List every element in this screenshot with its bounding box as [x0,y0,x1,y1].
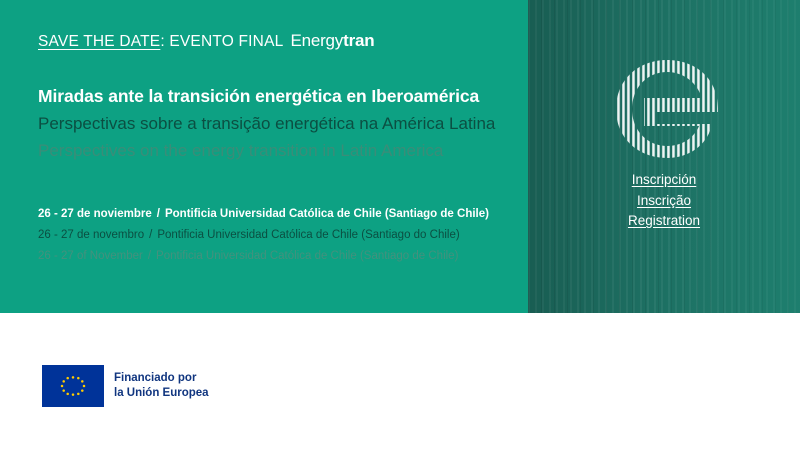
title-block: Miradas ante la transición energética en… [38,86,495,161]
registration-link-english[interactable]: Registration [528,213,800,228]
title-english: Perspectives on the energy transition in… [38,141,495,161]
title-portuguese: Perspectivas sobre a transição energétic… [38,114,495,134]
date-venue-english: 26 - 27 of November/Pontificia Universid… [38,250,489,262]
date-text: 26 - 27 of November [38,250,143,262]
eu-funding-text: Financiado por la Unión Europea [114,371,209,401]
save-the-date-rest: : EVENTO FINAL [160,33,283,50]
date-text: 26 - 27 de noviembre [38,208,152,220]
eu-funding-line-1: Financiado por [114,371,209,386]
title-spanish: Miradas ante la transición energética en… [38,86,495,107]
wordmark-light-part: Energy [290,31,343,50]
date-text: 26 - 27 de novembro [38,229,144,241]
date-venue-separator: / [152,208,165,220]
registration-link-spanish[interactable]: Inscripción [528,172,800,187]
date-venue-spanish: 26 - 27 de noviembre/Pontificia Universi… [38,208,489,220]
eu-funding-line-2: la Unión Europea [114,386,209,401]
european-union-flag-icon [42,365,104,407]
date-venue-block: 26 - 27 de noviembre/Pontificia Universi… [38,208,489,262]
wordmark-bold-part: tran [343,31,374,50]
event-announcement-poster: SAVE THE DATE: EVENTO FINALEnergytran Mi… [0,0,800,450]
registration-link-portuguese[interactable]: Inscrição [528,193,800,208]
registration-links: Inscripción Inscrição Registration [528,172,800,228]
date-venue-portuguese: 26 - 27 de novembro/Pontificia Universid… [38,229,489,241]
hero-banner: SAVE THE DATE: EVENTO FINALEnergytran Mi… [0,0,800,313]
date-venue-separator: / [144,229,157,241]
venue-text: Pontificia Universidad Católica de Chile… [157,229,459,241]
footer-sponsor-bar: Financiado por la Unión Europea CONSORCI… [0,313,800,450]
venue-text: Pontificia Universidad Católica de Chile… [165,208,489,220]
energytran-e-monogram-icon [612,58,722,160]
energytran-wordmark: Energytran [290,31,374,50]
venue-text: Pontificia Universidad Católica de Chile… [156,250,458,262]
save-the-date-line: SAVE THE DATE: EVENTO FINALEnergytran [38,31,374,51]
save-the-date-label: SAVE THE DATE [38,33,160,50]
date-venue-separator: / [143,250,156,262]
eu-funding-block: Financiado por la Unión Europea [42,365,209,407]
